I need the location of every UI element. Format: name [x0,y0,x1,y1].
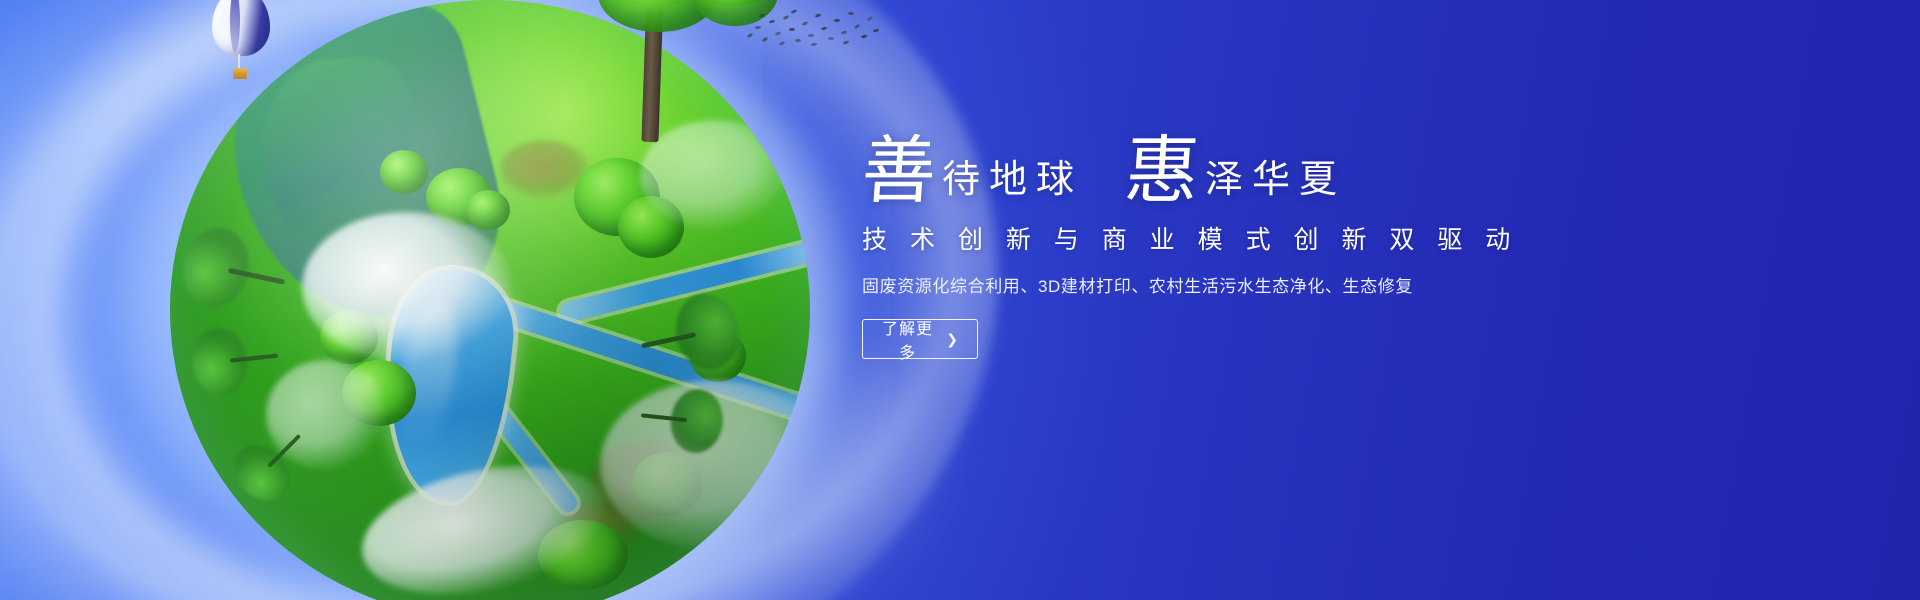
river [455,363,580,516]
river [468,291,810,436]
tree-clump [632,452,702,516]
soil-patch [500,140,590,198]
hero-copy: 善 待地球 惠 泽华夏 技 术 创 新 与 商 业 模 式 创 新 双 驱 动 … [862,128,1422,359]
cloud [350,445,619,600]
cloud [600,380,810,550]
bird-flock-icon [745,8,875,52]
headline-lead-char-1: 善 [859,134,944,208]
tree-clump [426,168,492,226]
cloud [302,212,512,362]
learn-more-label: 了解更多 [881,315,934,363]
tree-clump [342,360,416,426]
hero-description: 固废资源化综合利用、3D建材打印、农村生活污水生态净化、生态修复 [862,272,1422,297]
learn-more-button[interactable]: 了解更多 ❯ [862,319,978,359]
tree-clump [320,310,378,364]
soil-patch [560,500,640,554]
tree-clump [690,330,746,382]
hot-air-balloon-icon [212,0,270,84]
tree-clump [466,190,510,230]
headline-lead-char-2: 惠 [1122,134,1207,208]
tree-clump [538,520,628,590]
river [558,232,810,324]
globe-illustration [150,0,850,600]
lake [376,264,519,505]
hero-subtitle: 技 术 创 新 与 商 业 模 式 创 新 双 驱 动 [862,220,1422,256]
lake-reflection [389,297,466,454]
cloud [266,360,386,470]
tree-clump [574,158,660,236]
tree-clump [380,150,428,194]
soil-patch [590,440,700,526]
hero-banner: 善 待地球 惠 泽华夏 技 术 创 新 与 商 业 模 式 创 新 双 驱 动 … [0,0,1920,600]
balloon-envelope [212,0,270,56]
tree-clump [618,196,684,258]
headline-rest-1: 待地球 [942,160,1083,198]
chevron-right-icon: ❯ [946,332,959,346]
mountain-ridge [262,58,412,248]
balloon-basket [233,68,247,79]
headline-rest-2: 泽华夏 [1205,160,1346,198]
page-title: 善 待地球 惠 泽华夏 [862,128,1422,202]
